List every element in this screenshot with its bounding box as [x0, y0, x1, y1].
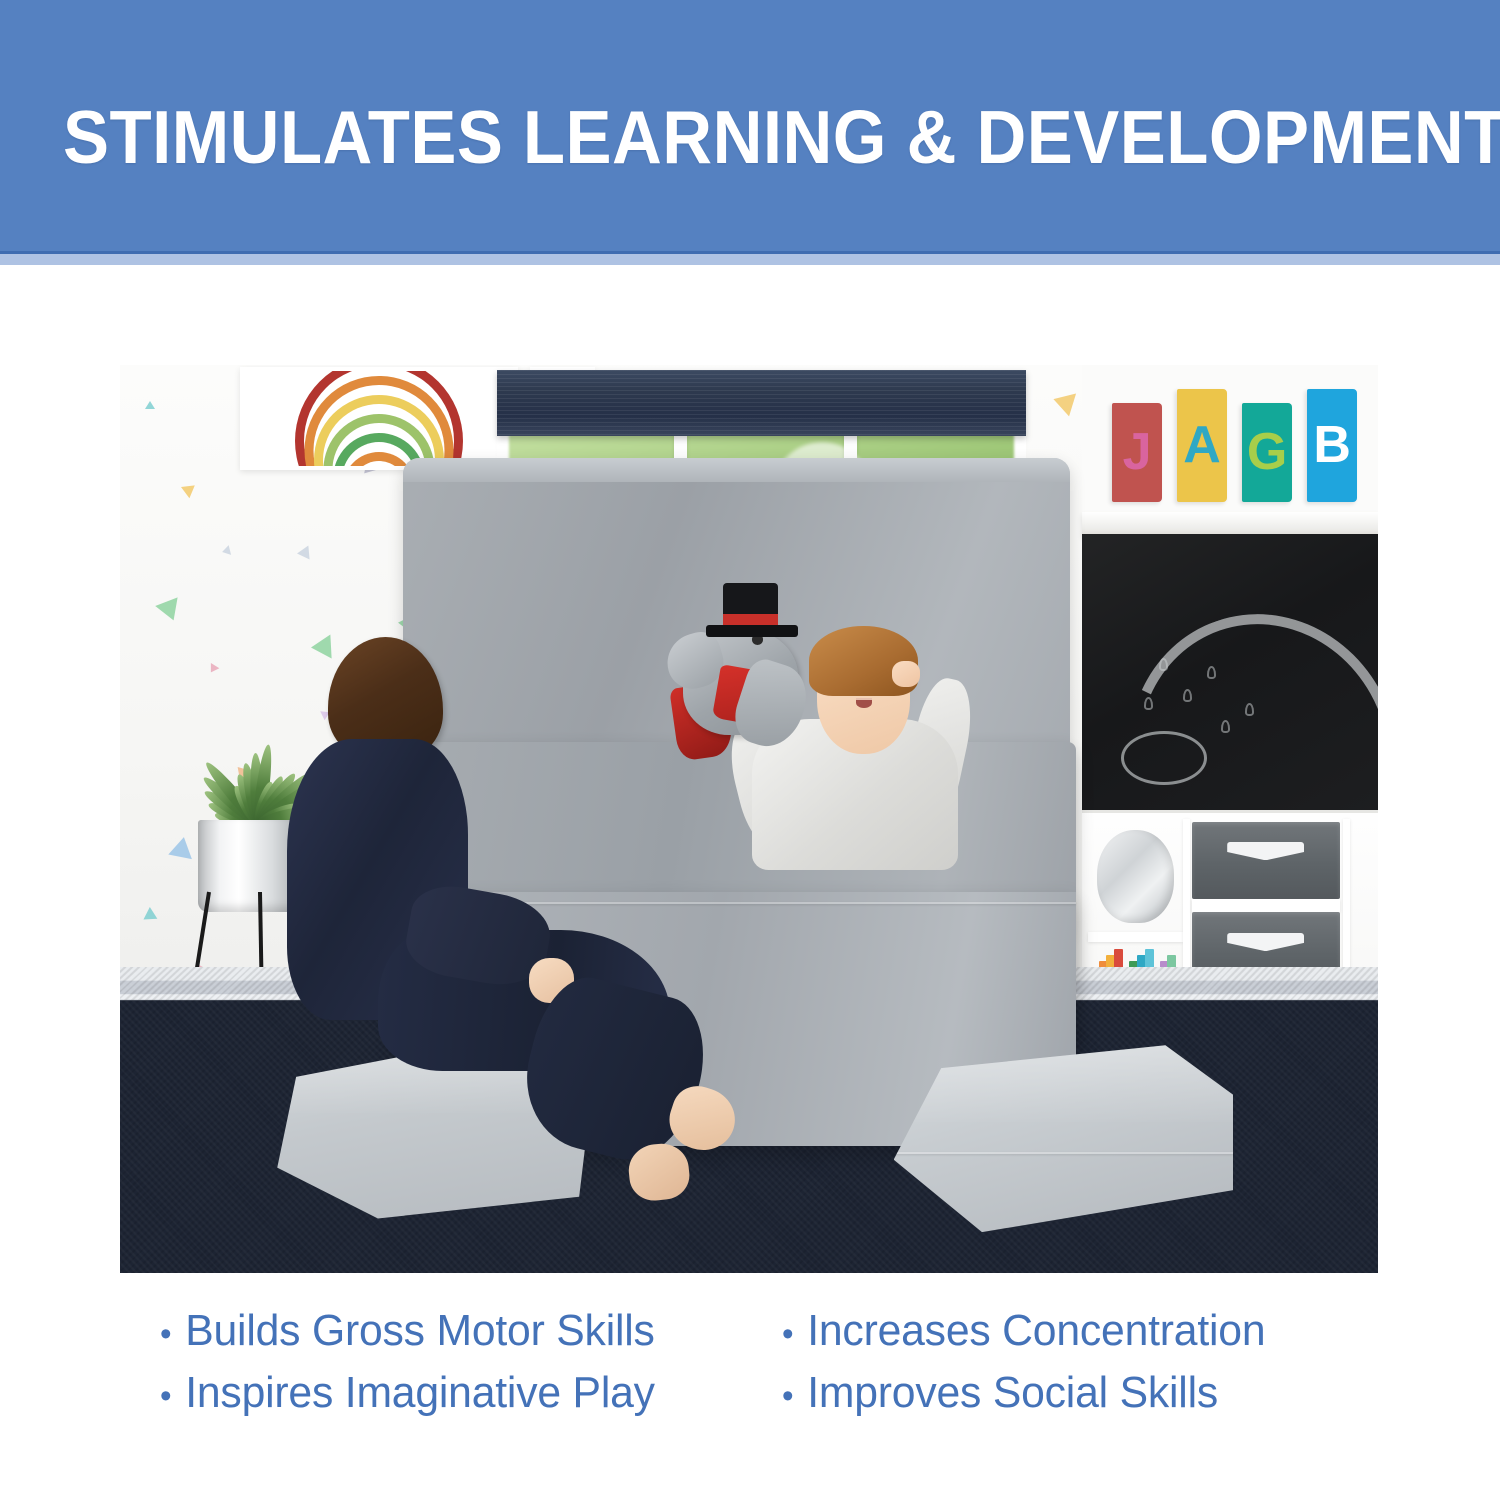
bullet-dot-icon: • — [782, 1303, 807, 1365]
letter-book-glyph: A — [1177, 389, 1227, 502]
cabinet-shelf-divider — [1088, 932, 1183, 942]
chalkboard — [1082, 534, 1378, 815]
letter-book: B — [1307, 389, 1357, 502]
benefit-label: Increases Concentration — [807, 1300, 1265, 1362]
rainbow-wall-art — [240, 367, 518, 470]
storage-bin[interactable] — [1192, 822, 1340, 900]
chalk-cloud-drawing — [1121, 731, 1207, 785]
confetti-triangle — [1050, 388, 1076, 417]
benefit-label: Improves Social Skills — [807, 1362, 1218, 1424]
confetti-triangle — [155, 597, 185, 624]
upper-shelf-wall: JAGB — [1082, 365, 1378, 524]
confetti-triangle — [145, 401, 155, 409]
banner-title: STIMULATES LEARNING & DEVELOPMENT — [63, 99, 1500, 175]
toddler-hand — [892, 661, 920, 687]
confetti-triangle — [221, 545, 231, 557]
benefit-label: Builds Gross Motor Skills — [185, 1300, 654, 1362]
foam-theater-top-edge — [403, 458, 1070, 482]
benefits-section: • Builds Gross Motor Skills • Inspires I… — [0, 1300, 1500, 1480]
letter-book-glyph: J — [1112, 403, 1162, 502]
puppet-hat-brim — [706, 625, 798, 638]
benefit-label: Inspires Imaginative Play — [185, 1362, 655, 1424]
letter-book-glyph: G — [1242, 403, 1292, 502]
letter-book-glyph: B — [1307, 389, 1357, 502]
bullet-dot-icon: • — [782, 1365, 807, 1427]
header-banner: STIMULATES LEARNING & DEVELOPMENT — [0, 0, 1500, 251]
toddler-smile — [856, 698, 872, 709]
chalk-raindrop — [1245, 703, 1254, 716]
cabinet-shelf-divider — [1192, 899, 1340, 912]
banner-accent-band — [0, 254, 1500, 265]
benefit-item: • Increases Concentration — [782, 1300, 1265, 1362]
benefit-item: • Improves Social Skills — [782, 1362, 1265, 1424]
ottoman-seam — [894, 1152, 1234, 1154]
benefits-left-column: • Builds Gross Motor Skills • Inspires I… — [160, 1300, 670, 1424]
letter-books-row: JAGB — [1082, 365, 1378, 524]
letter-book: A — [1177, 389, 1227, 502]
letter-book: G — [1242, 403, 1292, 502]
benefit-item: • Inspires Imaginative Play — [160, 1362, 655, 1424]
benefits-right-column: • Increases Concentration • Improves Soc… — [782, 1300, 1280, 1424]
confetti-triangle — [181, 480, 199, 498]
piggy-bank — [1097, 830, 1174, 923]
storage-bin-handle[interactable] — [1227, 933, 1304, 952]
bullet-dot-icon: • — [160, 1303, 185, 1365]
product-photo: JAGB — [120, 365, 1378, 1273]
shelf-ledge — [1082, 512, 1378, 536]
chalk-raindrop — [1183, 689, 1192, 702]
bullet-dot-icon: • — [160, 1365, 185, 1427]
chalk-raindrop — [1207, 666, 1216, 679]
elephant-puppet — [674, 583, 838, 765]
benefit-item: • Builds Gross Motor Skills — [160, 1300, 655, 1362]
navy-roman-shade — [497, 370, 1025, 435]
confetti-triangle — [297, 545, 310, 560]
storage-bin-handle[interactable] — [1227, 842, 1304, 861]
letter-book: J — [1112, 403, 1162, 502]
